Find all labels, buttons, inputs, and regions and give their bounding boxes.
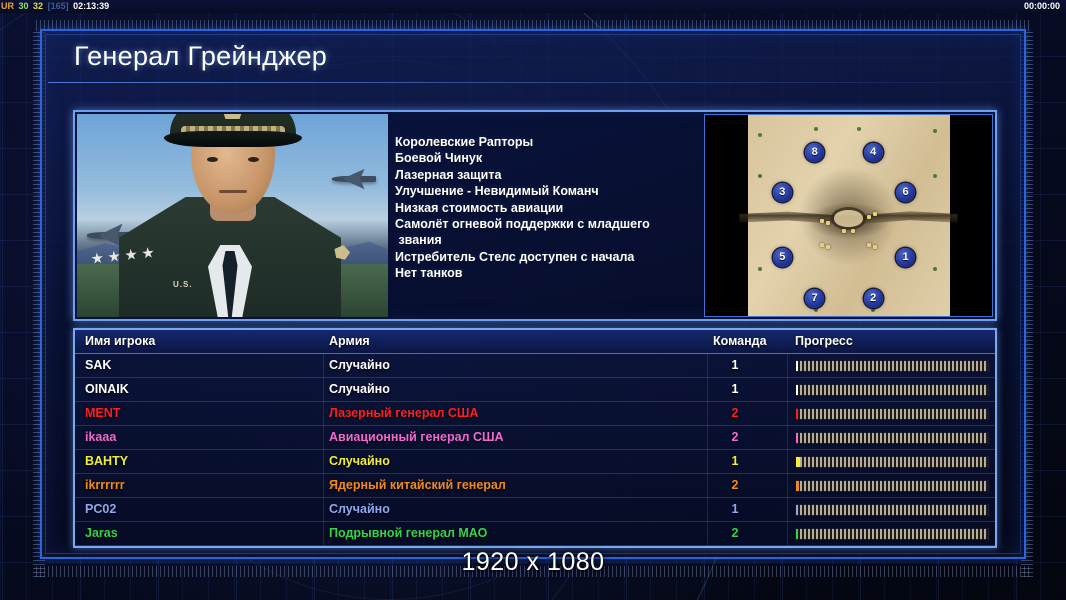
- player-army: Авиационный генерал США: [329, 430, 504, 444]
- minimap-tree-icon: [871, 308, 875, 312]
- general-eye-left: [207, 157, 218, 162]
- progress-bar-fill: [796, 529, 798, 539]
- player-name: MENT: [85, 406, 120, 420]
- player-team: 2: [725, 406, 745, 420]
- table-header-row: Имя игрока Армия Команда Прогресс: [75, 330, 995, 354]
- minimap-supply-icon: [826, 221, 830, 225]
- top-status-bar: UR 30 32 [165] 02:13:39 00:00:00: [0, 0, 1066, 13]
- status-value-2: 32: [32, 0, 44, 13]
- status-clock: 02:13:39: [72, 0, 110, 13]
- table-row[interactable]: JarasПодрывной генерал МАО2: [75, 522, 995, 546]
- status-tag: UR: [0, 0, 15, 13]
- status-value-1: 30: [18, 0, 30, 13]
- general-eye-right: [248, 157, 259, 162]
- minimap-tree-icon: [814, 308, 818, 312]
- progress-bar-fill: [796, 481, 799, 491]
- minimap-container[interactable]: 84365172: [704, 114, 993, 317]
- minimap-start-position[interactable]: 8: [805, 143, 824, 162]
- table-row[interactable]: OINAIKСлучайно1: [75, 378, 995, 402]
- player-table-panel: Имя игрока Армия Команда Прогресс SAKСлу…: [73, 328, 997, 548]
- minimap-start-position[interactable]: 2: [864, 289, 883, 308]
- progress-bar: [795, 432, 989, 444]
- player-team: 1: [725, 454, 745, 468]
- progress-bar-fill: [796, 385, 798, 395]
- progress-bar-fill: [796, 505, 798, 515]
- minimap-supply-icon: [820, 243, 824, 247]
- minimap-tree-icon: [933, 129, 937, 133]
- minimap-supply-icon: [867, 215, 871, 219]
- status-bracket: [165]: [47, 0, 70, 13]
- minimap-tree-icon: [758, 267, 762, 271]
- player-team: 1: [725, 502, 745, 516]
- table-row[interactable]: PC02Случайно1: [75, 498, 995, 522]
- minimap-center-island: [834, 210, 862, 226]
- minimap-tree-icon: [933, 174, 937, 178]
- player-team: 1: [725, 358, 745, 372]
- minimap-tree-icon: [758, 133, 762, 137]
- title-divider: [48, 82, 1018, 83]
- player-name: ikrrrrrr: [85, 478, 125, 492]
- header-progress: Прогресс: [795, 334, 853, 348]
- progress-bar: [795, 480, 989, 492]
- minimap-start-position[interactable]: 5: [773, 248, 792, 267]
- player-name: SAK: [85, 358, 111, 372]
- minimap-tree-icon: [758, 174, 762, 178]
- minimap-supply-icon: [820, 219, 824, 223]
- progress-bar: [795, 360, 989, 372]
- player-army: Случайно: [329, 382, 390, 396]
- aircraft-icon: [332, 176, 376, 182]
- game-lobby-screen: UR 30 32 [165] 02:13:39 00:00:00 Генерал…: [0, 0, 1066, 600]
- player-army: Подрывной генерал МАО: [329, 526, 487, 540]
- general-portrait: U.S.: [77, 114, 388, 317]
- player-name: Jaras: [85, 526, 118, 540]
- us-insignia-label: U.S.: [173, 280, 193, 289]
- header-army: Армия: [329, 334, 370, 348]
- player-army: Случайно: [329, 454, 390, 468]
- table-row[interactable]: ikrrrrrrЯдерный китайский генерал2: [75, 474, 995, 498]
- player-rows: SAKСлучайно1OINAIKСлучайно1MENTЛазерный …: [75, 354, 995, 546]
- minimap-start-position[interactable]: 3: [773, 183, 792, 202]
- progress-bar: [795, 456, 989, 468]
- player-army: Случайно: [329, 358, 390, 372]
- minimap-tree-icon: [857, 127, 861, 131]
- minimap-tree-icon: [814, 127, 818, 131]
- header-player-name: Имя игрока: [85, 334, 155, 348]
- minimap-start-position[interactable]: 4: [864, 143, 883, 162]
- player-team: 2: [725, 526, 745, 540]
- table-row[interactable]: BAHTYСлучайно1: [75, 450, 995, 474]
- progress-bar-fill: [796, 433, 798, 443]
- minimap-supply-icon: [851, 229, 855, 233]
- progress-bar: [795, 504, 989, 516]
- page-title: Генерал Грейнджер: [74, 41, 327, 72]
- table-row[interactable]: ikaaaАвиационный генерал США2: [75, 426, 995, 450]
- progress-bar-fill: [796, 457, 800, 467]
- player-team: 2: [725, 430, 745, 444]
- player-name: ikaaa: [85, 430, 116, 444]
- minimap-supply-icon: [867, 243, 871, 247]
- player-name: OINAIK: [85, 382, 129, 396]
- minimap-start-position[interactable]: 6: [896, 183, 915, 202]
- minimap-supply-icon: [842, 229, 846, 233]
- status-right-clock: 00:00:00: [1024, 0, 1060, 13]
- progress-bar: [795, 408, 989, 420]
- player-army: Случайно: [329, 502, 390, 516]
- player-name: BAHTY: [85, 454, 128, 468]
- minimap-tree-icon: [933, 267, 937, 271]
- player-team: 2: [725, 478, 745, 492]
- player-team: 1: [725, 382, 745, 396]
- progress-bar-fill: [796, 409, 798, 419]
- table-row[interactable]: SAKСлучайно1: [75, 354, 995, 378]
- progress-bar-fill: [796, 361, 798, 371]
- resolution-overlay: 1920 x 1080: [0, 548, 1066, 577]
- table-row[interactable]: MENTЛазерный генерал США2: [75, 402, 995, 426]
- minimap-supply-icon: [826, 245, 830, 249]
- title-bar: Генерал Грейнджер: [42, 31, 1024, 87]
- progress-bar: [795, 384, 989, 396]
- cap-brim: [164, 131, 302, 147]
- general-mouth: [219, 190, 247, 193]
- player-name: PC02: [85, 502, 116, 516]
- general-info-panel: U.S. Королевские РапторыБоевой ЧинукЛазе…: [73, 110, 997, 321]
- minimap-start-position[interactable]: 7: [805, 289, 824, 308]
- main-window: Генерал Грейнджер: [40, 29, 1026, 559]
- minimap-start-position[interactable]: 1: [896, 248, 915, 267]
- progress-bar: [795, 528, 989, 540]
- minimap[interactable]: 84365172: [748, 115, 950, 317]
- minimap-supply-icon: [873, 245, 877, 249]
- header-team: Команда: [713, 334, 767, 348]
- player-army: Ядерный китайский генерал: [329, 478, 506, 492]
- player-army: Лазерный генерал США: [329, 406, 478, 420]
